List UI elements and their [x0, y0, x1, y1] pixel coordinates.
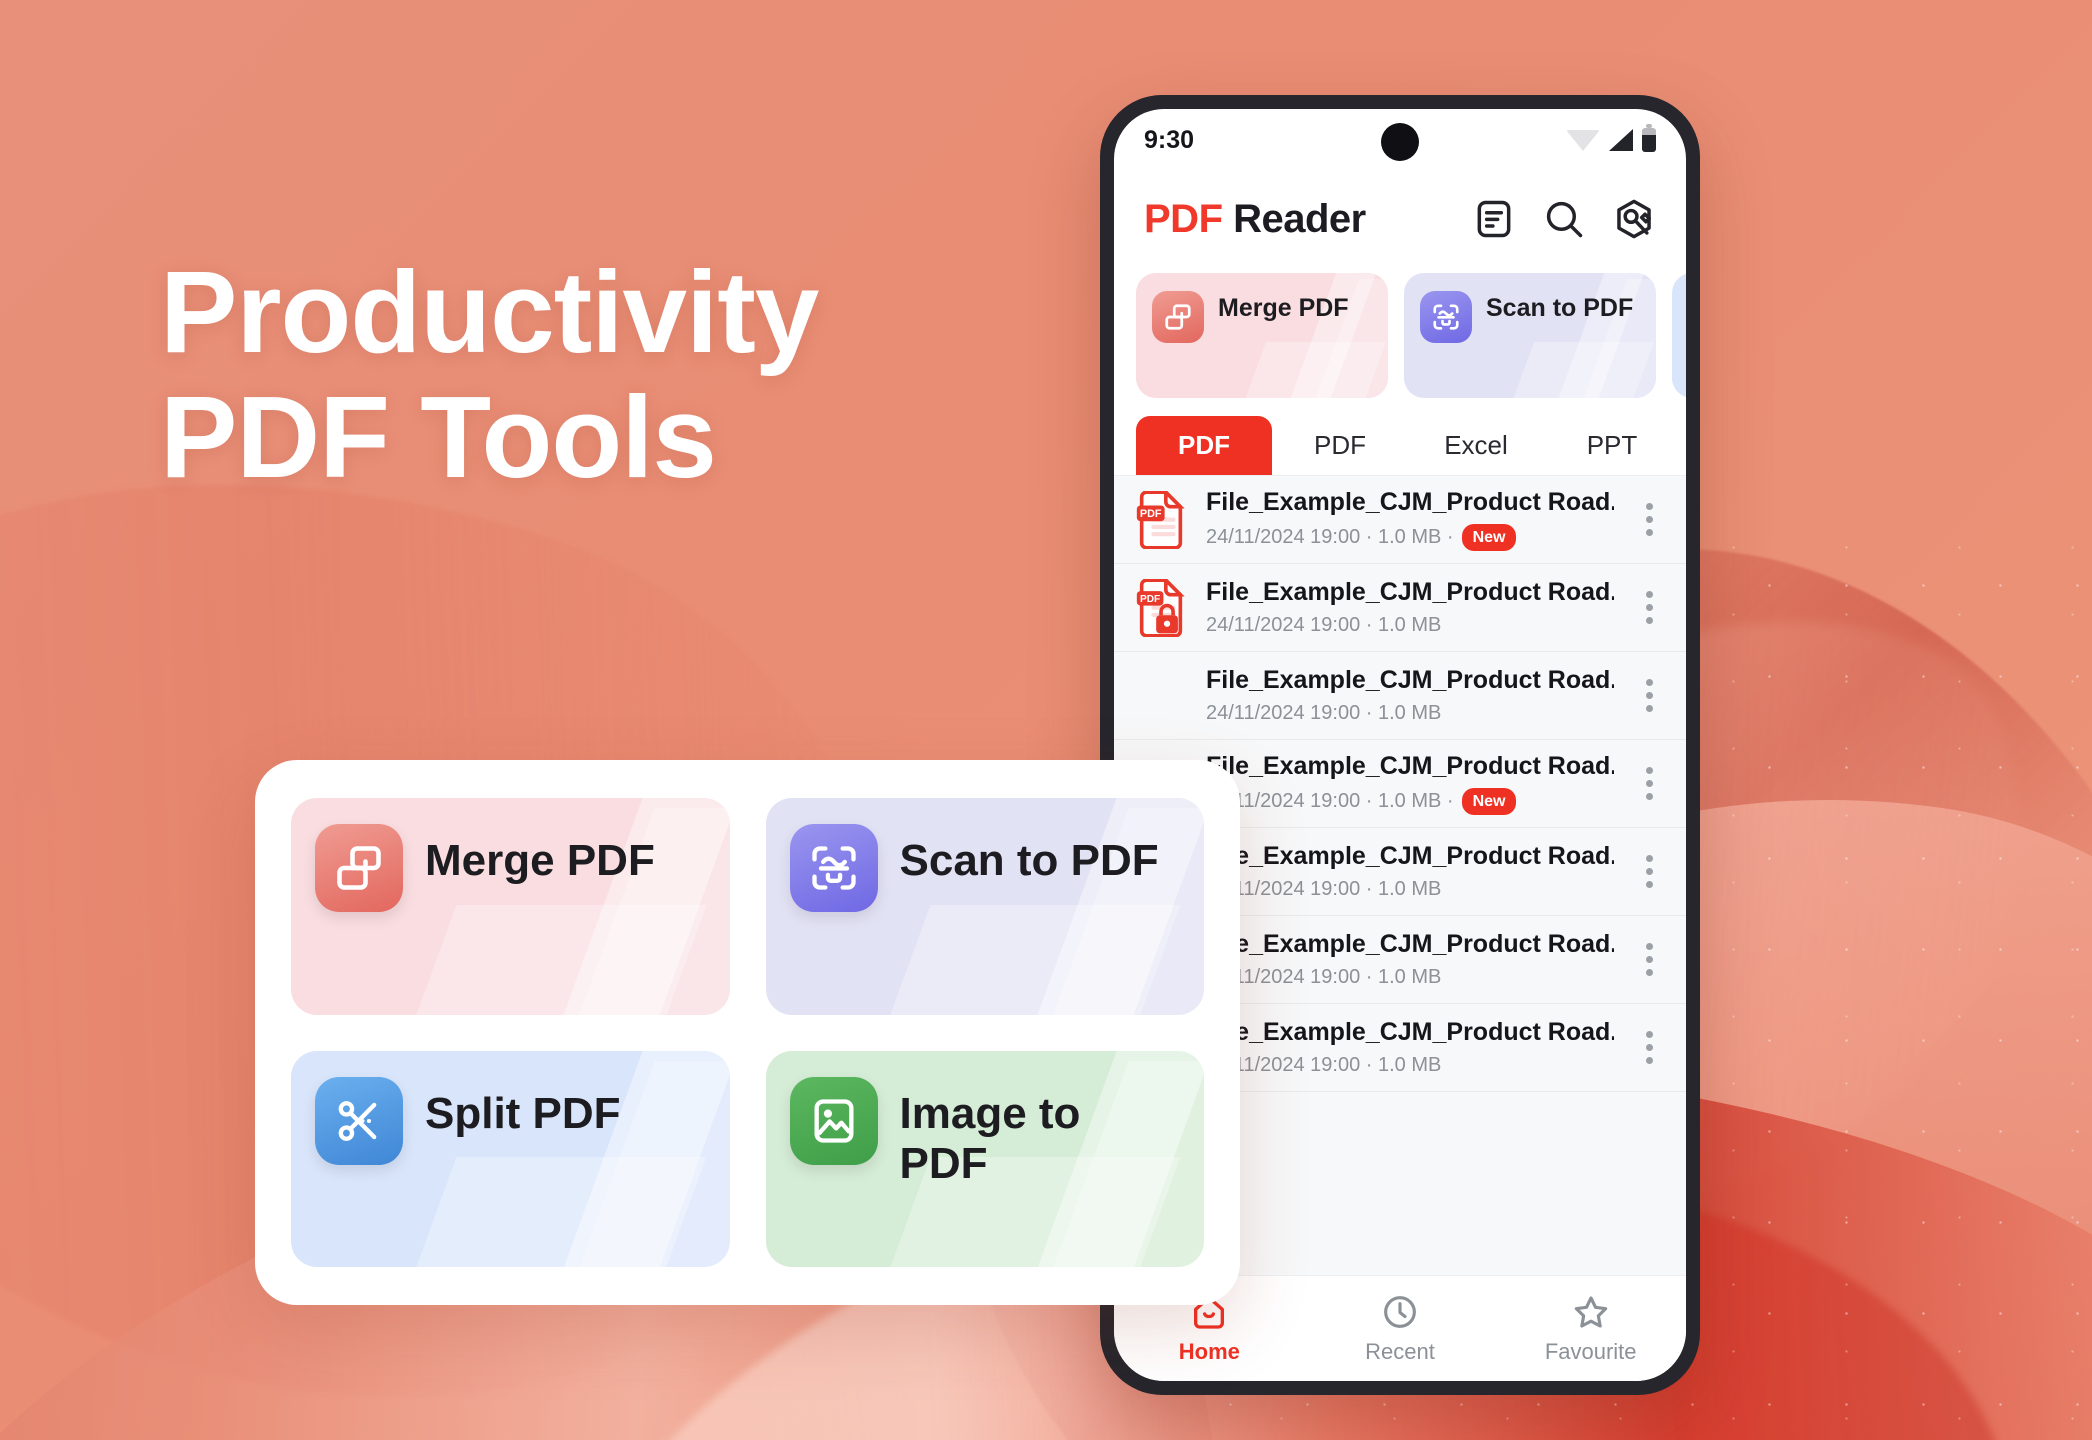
cellular-signal-icon — [1609, 129, 1633, 151]
file-more-options-icon[interactable] — [1634, 674, 1664, 718]
star-icon — [1571, 1292, 1611, 1332]
file-name: File_Example_CJM_Product Road... — [1206, 578, 1614, 607]
file-meta: File_Example_CJM_Product Road... 24/11/2… — [1206, 488, 1614, 552]
file-name: File_Example_CJM_Product Road... — [1206, 752, 1614, 781]
file-more-options-icon[interactable] — [1634, 762, 1664, 806]
quick-action-decoration — [1672, 273, 1686, 398]
headline-line-1: Productivity — [160, 247, 818, 377]
status-bar: 9:30 — [1114, 109, 1686, 171]
table-row[interactable]: PDF File_Example_CJM_Product Road... 24/… — [1114, 564, 1686, 652]
file-subtitle: 24/11/2024 19:00 · 1.0 MB — [1206, 1054, 1614, 1077]
app-title-pdf: PDF — [1144, 197, 1223, 241]
file-meta: File_Example_CJM_Product Road... 24/11/2… — [1206, 842, 1614, 901]
tab-pdf-active[interactable]: PDF — [1136, 416, 1272, 475]
file-more-options-icon[interactable] — [1634, 498, 1664, 542]
table-row[interactable]: File_Example_CJM_Product Road... 24/11/2… — [1114, 652, 1686, 740]
tool-label: Merge PDF — [425, 824, 655, 887]
nav-item-recent[interactable]: Recent — [1305, 1292, 1496, 1365]
file-meta: File_Example_CJM_Product Road... 24/11/2… — [1206, 1018, 1614, 1077]
table-row[interactable]: PDF File_Example_CJM_Product Road... 24/… — [1114, 476, 1686, 564]
file-subtitle: 24/11/2024 19:00 · 1.0 MB — [1206, 702, 1614, 725]
file-date-size: 24/11/2024 19:00 · 1.0 MB · — [1206, 526, 1454, 549]
pdf-file-icon — [1136, 667, 1186, 725]
tab-excel[interactable]: Excel — [1408, 416, 1544, 475]
file-name: File_Example_CJM_Product Road... — [1206, 1018, 1614, 1047]
file-name: File_Example_CJM_Product Road... — [1206, 488, 1614, 517]
image-to-pdf-icon — [790, 1077, 878, 1165]
status-badge: New — [1462, 524, 1517, 552]
headline-line-2: PDF Tools — [160, 375, 980, 500]
tool-card-split-pdf[interactable]: Split PDF — [291, 1051, 730, 1268]
file-more-options-icon[interactable] — [1634, 850, 1664, 894]
nav-item-favourite[interactable]: Favourite — [1495, 1292, 1686, 1365]
quick-action-label: Scan to PDF — [1486, 291, 1633, 323]
quick-action-merge-pdf[interactable]: Merge PDF — [1136, 273, 1388, 398]
quick-action-scan-to-pdf[interactable]: Scan to PDF — [1404, 273, 1656, 398]
wifi-icon — [1566, 130, 1600, 151]
app-header: PDF Reader — [1114, 171, 1686, 267]
file-date-size: 24/11/2024 19:00 · 1.0 MB — [1206, 614, 1441, 637]
file-meta: File_Example_CJM_Product Road... 24/11/2… — [1206, 666, 1614, 725]
nav-label: Recent — [1365, 1339, 1435, 1365]
file-date-size: 24/11/2024 19:00 · 1.0 MB — [1206, 878, 1441, 901]
hero-headline: Productivity PDF Tools — [160, 250, 980, 501]
merge-pdf-icon — [315, 824, 403, 912]
clock-icon — [1380, 1292, 1420, 1332]
header-actions — [1472, 197, 1656, 241]
battery-icon — [1642, 128, 1656, 152]
file-more-options-icon[interactable] — [1634, 1026, 1664, 1070]
promo-banner: Productivity PDF Tools Merge PDF — [0, 0, 2092, 1440]
file-more-options-icon[interactable] — [1634, 938, 1664, 982]
scan-to-pdf-icon — [790, 824, 878, 912]
front-camera-punch-hole — [1381, 123, 1419, 161]
nav-label: Favourite — [1545, 1339, 1637, 1365]
status-badge: New — [1462, 788, 1517, 816]
status-indicators — [1566, 128, 1656, 152]
pdf-file-icon: PDF — [1136, 491, 1186, 549]
file-date-size: 24/11/2024 19:00 · 1.0 MB — [1206, 966, 1441, 989]
file-name: File_Example_CJM_Product Road... — [1206, 930, 1614, 959]
app-title-reader: Reader — [1223, 197, 1366, 241]
file-subtitle: 24/11/2024 19:00 · 1.0 MB · New — [1206, 788, 1614, 816]
file-meta: File_Example_CJM_Product Road... 24/11/2… — [1206, 752, 1614, 816]
file-type-tabs[interactable]: PDF PDF Excel PPT — [1114, 398, 1686, 476]
document-list-icon[interactable] — [1472, 197, 1516, 241]
tab-ppt[interactable]: PPT — [1544, 416, 1680, 475]
file-date-size: 24/11/2024 19:00 · 1.0 MB · — [1206, 790, 1454, 813]
file-name: File_Example_CJM_Product Road... — [1206, 842, 1614, 871]
svg-text:PDF: PDF — [1140, 508, 1162, 520]
tab-pdf[interactable]: PDF — [1272, 416, 1408, 475]
merge-pdf-icon — [1152, 291, 1204, 343]
file-subtitle: 24/11/2024 19:00 · 1.0 MB — [1206, 966, 1614, 989]
app-title: PDF Reader — [1144, 197, 1366, 242]
split-pdf-icon — [315, 1077, 403, 1165]
file-meta: File_Example_CJM_Product Road... 24/11/2… — [1206, 578, 1614, 637]
tool-label: Split PDF — [425, 1077, 621, 1140]
quick-action-split-pdf[interactable] — [1672, 273, 1686, 398]
svg-text:PDF: PDF — [1140, 594, 1160, 605]
tool-label: Scan to PDF — [900, 824, 1159, 887]
tools-hexagon-icon[interactable] — [1612, 197, 1656, 241]
search-icon[interactable] — [1542, 197, 1586, 241]
tool-label: Image to PDF — [900, 1077, 1160, 1190]
tool-card-scan-to-pdf[interactable]: Scan to PDF — [766, 798, 1205, 1015]
file-date-size: 24/11/2024 19:00 · 1.0 MB — [1206, 702, 1441, 725]
pdf-locked-file-icon: PDF — [1136, 579, 1186, 637]
tool-card-image-to-pdf[interactable]: Image to PDF — [766, 1051, 1205, 1268]
tools-card: Merge PDF Scan to PDF — [255, 760, 1240, 1305]
quick-action-label: Merge PDF — [1218, 291, 1349, 323]
status-time: 9:30 — [1144, 126, 1194, 155]
file-meta: File_Example_CJM_Product Road... 24/11/2… — [1206, 930, 1614, 989]
file-date-size: 24/11/2024 19:00 · 1.0 MB — [1206, 1054, 1441, 1077]
file-subtitle: 24/11/2024 19:00 · 1.0 MB — [1206, 614, 1614, 637]
file-subtitle: 24/11/2024 19:00 · 1.0 MB · New — [1206, 524, 1614, 552]
file-name: File_Example_CJM_Product Road... — [1206, 666, 1614, 695]
file-more-options-icon[interactable] — [1634, 586, 1664, 630]
scan-to-pdf-icon — [1420, 291, 1472, 343]
quick-actions-carousel[interactable]: Merge PDF — [1114, 267, 1686, 398]
tool-card-merge-pdf[interactable]: Merge PDF — [291, 798, 730, 1015]
file-subtitle: 24/11/2024 19:00 · 1.0 MB — [1206, 878, 1614, 901]
nav-label: Home — [1179, 1339, 1240, 1365]
